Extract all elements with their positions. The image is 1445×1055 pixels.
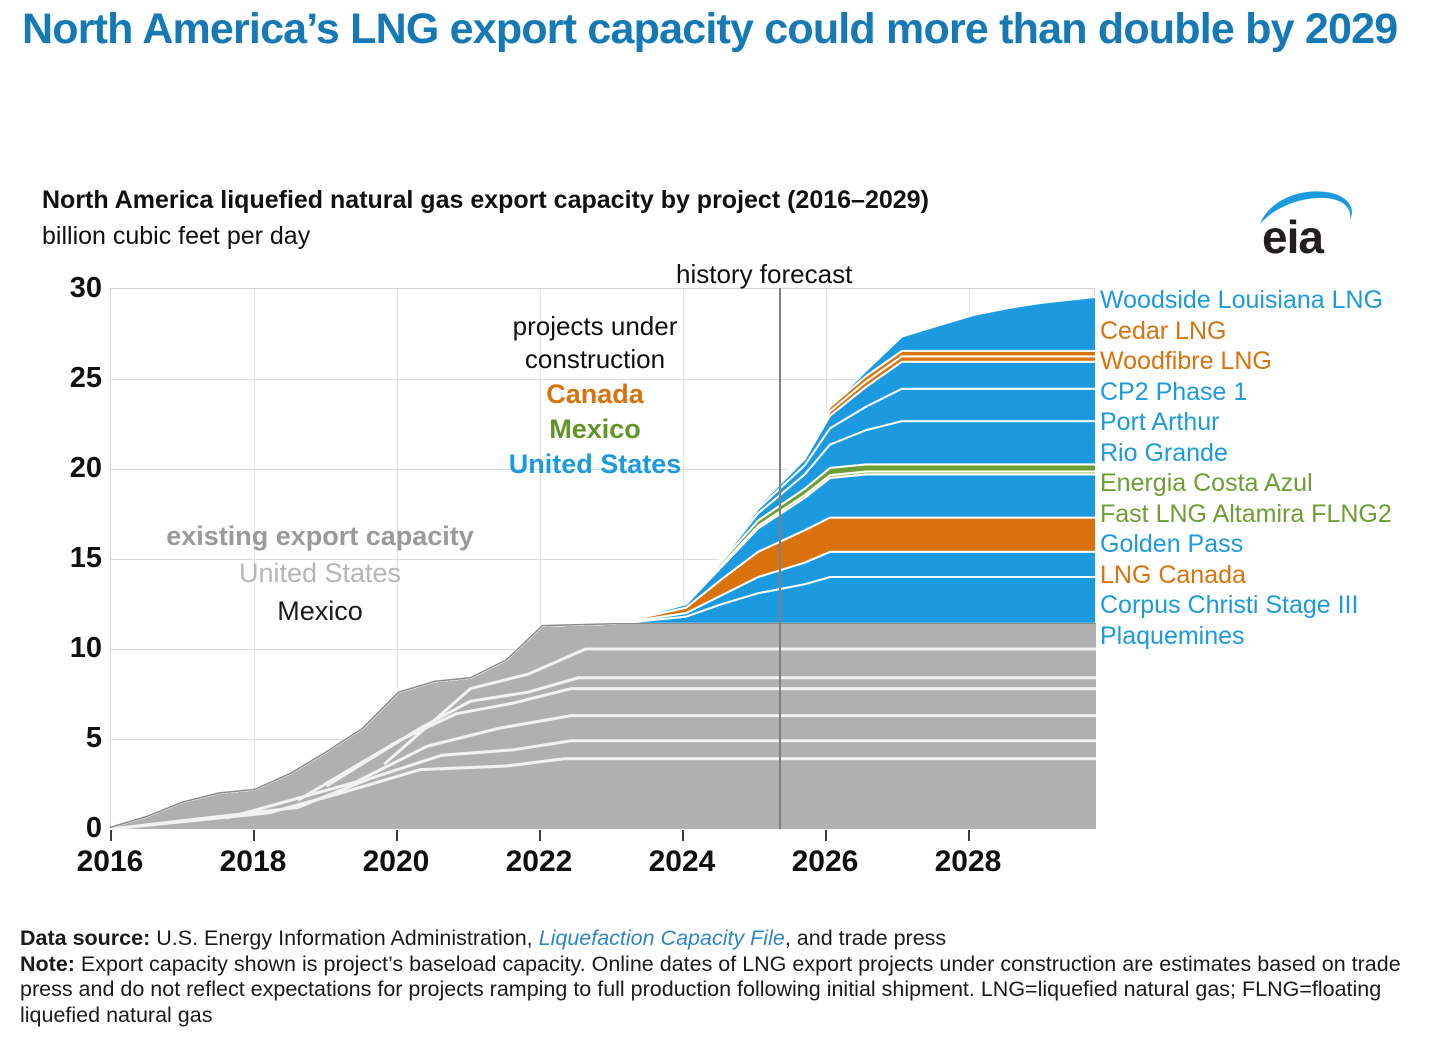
legend-item-label: Woodside Louisiana LNG: [1100, 286, 1383, 314]
legend-item-corpus-christi-stage-iii[interactable]: Corpus Christi Stage III: [1100, 590, 1445, 621]
note-line: Note: Export capacity shown is project’s…: [20, 952, 1435, 1029]
legend-item-plaquemines[interactable]: Plaquemines: [1100, 621, 1445, 652]
x-tickmark-2024: [682, 830, 684, 841]
note-text: Export capacity shown is project’s basel…: [20, 952, 1401, 1027]
y-tick-10: 10: [16, 632, 102, 665]
x-tickmark-2018: [253, 830, 255, 841]
country-label-canada: Canada: [470, 377, 720, 412]
legend-item-label: LNG Canada: [1100, 561, 1246, 589]
y-tick-5: 5: [16, 722, 102, 755]
x-tickmark-2020: [396, 830, 398, 841]
legend-item-label: Port Arthur: [1100, 408, 1220, 436]
y-axis: 30 25 20 15 10 5 0: [8, 0, 102, 1055]
legend-item-cedar-lng[interactable]: Cedar LNG: [1100, 316, 1445, 347]
x-tick-2028: 2028: [908, 845, 1028, 879]
legend-item-label: CP2 Phase 1: [1100, 378, 1247, 406]
legend-item-label: Plaquemines: [1100, 622, 1245, 650]
existing-capacity-us-label: United States: [130, 555, 510, 592]
puc-line1: projects under: [470, 310, 720, 343]
x-tickmark-2016: [110, 830, 112, 841]
chart-title: North America liquefied natural gas expo…: [42, 186, 929, 215]
area-existing-export-capacity: [111, 624, 1096, 829]
legend-item-label: Corpus Christi Stage III: [1100, 591, 1358, 619]
legend-item-woodside-louisiana-lng[interactable]: Woodside Louisiana LNG: [1100, 285, 1445, 316]
page-headline: North America’s LNG export capacity coul…: [22, 2, 1422, 57]
existing-export-capacity-annotation: existing export capacity United States M…: [130, 518, 510, 630]
note-label: Note:: [20, 952, 75, 976]
data-source-text-b: , and trade press: [785, 926, 946, 950]
legend-item-rio-grande[interactable]: Rio Grande: [1100, 438, 1445, 469]
legend-item-label: Rio Grande: [1100, 439, 1228, 467]
legend-item-label: Fast LNG Altamira FLNG2: [1100, 500, 1392, 528]
data-source-line: Data source: U.S. Energy Information Adm…: [20, 926, 1435, 952]
legend-item-energia-costa-azul[interactable]: Energia Costa Azul: [1100, 468, 1445, 499]
footnotes: Data source: U.S. Energy Information Adm…: [20, 926, 1435, 1028]
eia-logo: eia: [1258, 188, 1368, 268]
data-source-text-a: U.S. Energy Information Administration,: [150, 926, 538, 950]
x-tickmark-2022: [539, 830, 541, 841]
legend-item-lng-canada[interactable]: LNG Canada: [1100, 560, 1445, 591]
history-forecast-divider: [779, 288, 781, 829]
legend-item-label: Cedar LNG: [1100, 317, 1226, 345]
y-tick-0: 0: [16, 812, 102, 845]
legend-item-label: Energia Costa Azul: [1100, 469, 1313, 497]
x-tick-2022: 2022: [479, 845, 599, 879]
y-tick-15: 15: [16, 542, 102, 575]
x-tick-2016: 2016: [50, 845, 170, 879]
existing-capacity-label: existing export capacity: [130, 518, 510, 555]
x-tick-2026: 2026: [765, 845, 885, 879]
legend-item-fast-lng-altamira-flng2[interactable]: Fast LNG Altamira FLNG2: [1100, 499, 1445, 530]
legend-item-label: Golden Pass: [1100, 530, 1243, 558]
legend-item-woodfibre-lng[interactable]: Woodfibre LNG: [1100, 346, 1445, 377]
country-label-mexico: Mexico: [470, 412, 720, 447]
x-tick-2024: 2024: [622, 845, 742, 879]
legend-item-cp2-phase-1[interactable]: CP2 Phase 1: [1100, 377, 1445, 408]
y-tick-25: 25: [16, 362, 102, 395]
x-tickmark-2028: [968, 830, 970, 841]
x-tickmark-2026: [825, 830, 827, 841]
existing-capacity-mexico-label: Mexico: [130, 593, 510, 630]
data-source-label: Data source:: [20, 926, 150, 950]
country-label-united-states: United States: [470, 447, 720, 482]
legend-item-label: Woodfibre LNG: [1100, 347, 1272, 375]
puc-line2: construction: [470, 343, 720, 376]
x-tick-2020: 2020: [336, 845, 456, 879]
x-tick-2018: 2018: [193, 845, 313, 879]
legend-item-port-arthur[interactable]: Port Arthur: [1100, 407, 1445, 438]
history-forecast-label: history forecast: [676, 259, 852, 290]
y-tick-20: 20: [16, 452, 102, 485]
y-tick-30: 30: [16, 272, 102, 305]
liquefaction-capacity-file-link[interactable]: Liquefaction Capacity File: [539, 926, 785, 950]
legend-item-golden-pass[interactable]: Golden Pass: [1100, 529, 1445, 560]
projects-under-construction-annotation: projects under construction Canada Mexic…: [470, 310, 720, 482]
project-legend: Woodside Louisiana LNGCedar LNGWoodfibre…: [1100, 285, 1445, 651]
eia-wordmark: eia: [1262, 214, 1323, 260]
